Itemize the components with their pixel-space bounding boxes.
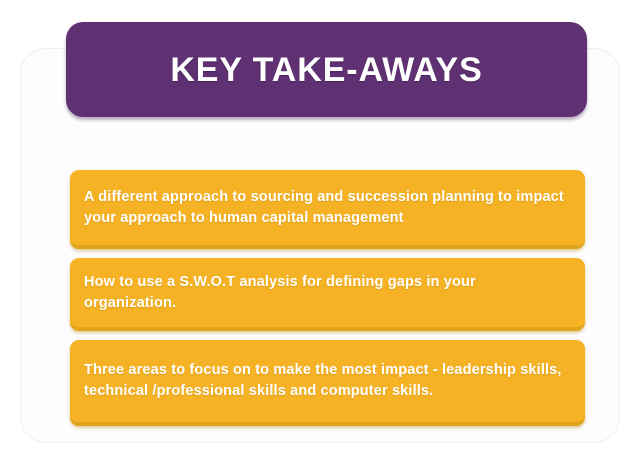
bullet-text-3: Three areas to focus on to make the most… [84, 360, 569, 402]
slide-canvas: KEY TAKE-AWAYS A different approach to s… [0, 0, 637, 474]
page-title: KEY TAKE-AWAYS [170, 53, 482, 87]
title-banner: KEY TAKE-AWAYS [66, 22, 587, 117]
bullet-text-1: A different approach to sourcing and suc… [84, 187, 569, 229]
bullet-card-1: A different approach to sourcing and suc… [70, 170, 585, 249]
bullet-text-2: How to use a S.W.O.T analysis for defini… [84, 272, 569, 314]
bullet-card-3: Three areas to focus on to make the most… [70, 340, 585, 426]
bullet-card-2: How to use a S.W.O.T analysis for defini… [70, 258, 585, 331]
